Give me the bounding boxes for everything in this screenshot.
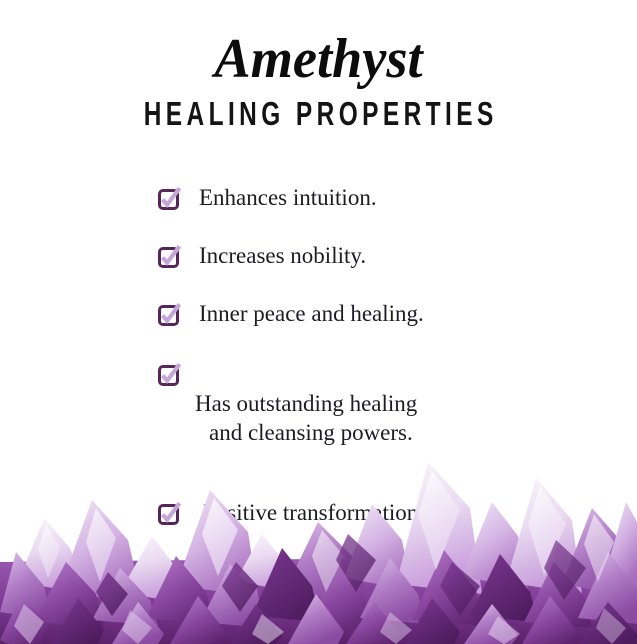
poster-canvas: Amethyst HEALING PROPERTIES Enhances int… [0,0,637,644]
checkbox-checked-icon[interactable] [158,365,179,386]
list-item-label: Enhances intuition. [199,184,377,212]
list-item-label-line1: Has outstanding healing [195,391,417,416]
amethyst-crystal-cluster-photo [0,444,637,644]
checkbox-checked-icon[interactable] [158,189,179,210]
list-item-label-line2: and cleansing powers. [195,418,417,447]
checkbox-checked-icon[interactable] [158,305,179,326]
list-item[interactable]: Inner peace and healing. [158,300,578,328]
page-subtitle: HEALING PROPERTIES [83,96,554,132]
list-item-label: Increases nobility. [199,242,366,270]
checkbox-checked-icon[interactable] [158,247,179,268]
header-block: Amethyst HEALING PROPERTIES [0,28,637,132]
page-title: Amethyst [10,28,628,90]
list-item[interactable]: Increases nobility. [158,242,578,270]
list-item[interactable]: Enhances intuition. [158,184,578,212]
list-item-label: Inner peace and healing. [199,300,424,328]
